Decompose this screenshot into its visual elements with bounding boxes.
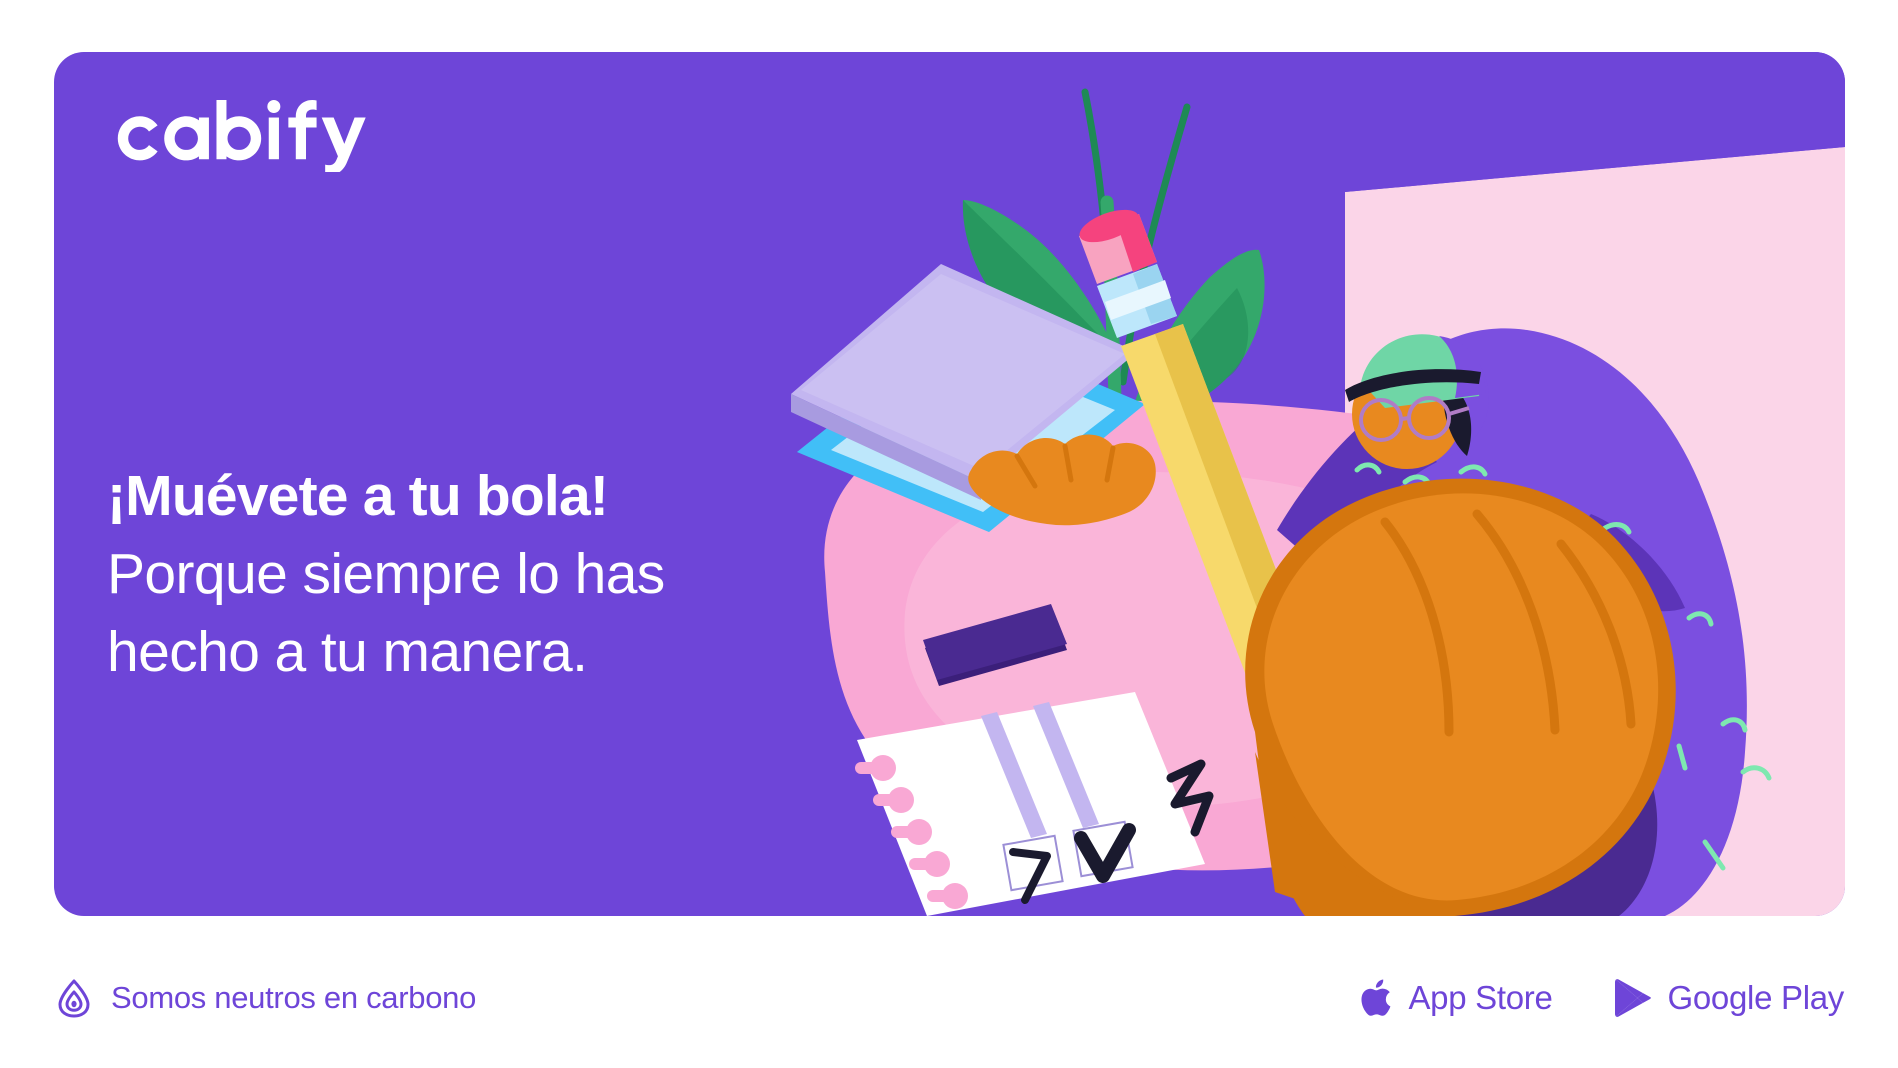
store-badges: App Store Google Play [1359,977,1844,1019]
google-play-button[interactable]: Google Play [1613,977,1844,1019]
app-store-button[interactable]: App Store [1359,977,1552,1019]
carbon-neutral-droplet-icon [54,978,94,1018]
hero-card: ¡Muévete a tu bola! Porque siempre lo ha… [54,52,1845,916]
footer: Somos neutros en carbono App Store [54,960,1844,1036]
app-store-label: App Store [1408,979,1552,1017]
carbon-neutral-label: Somos neutros en carbono [111,980,476,1016]
apple-icon [1359,977,1393,1019]
google-play-icon [1613,977,1653,1019]
page-root: ¡Muévete a tu bola! Porque siempre lo ha… [0,0,1898,1068]
carbon-neutral-badge: Somos neutros en carbono [54,978,476,1018]
hero-illustration [785,52,1845,916]
cabify-logo[interactable] [105,100,405,172]
google-play-label: Google Play [1668,979,1844,1017]
